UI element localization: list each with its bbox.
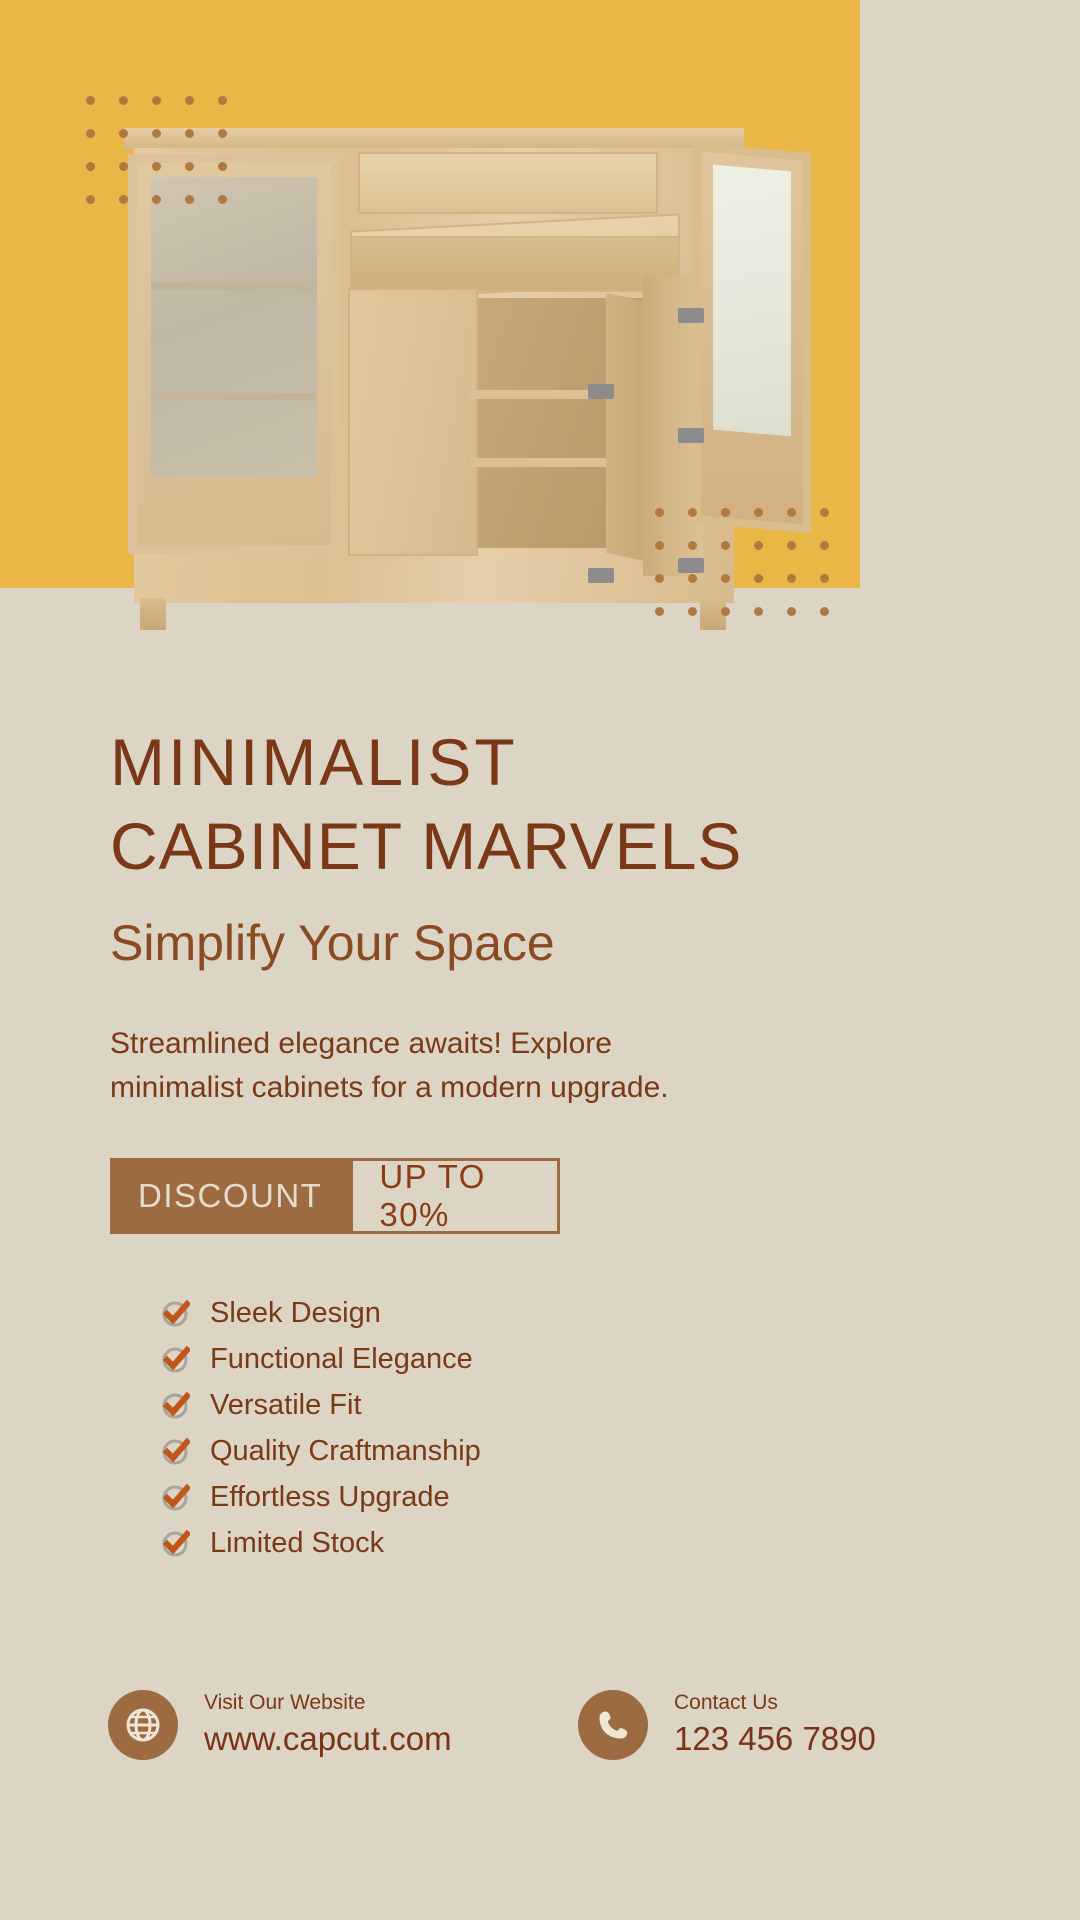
description-text: Streamlined elegance awaits! Explore min… (0, 1022, 750, 1110)
check-circle-icon (162, 1483, 190, 1511)
check-circle-icon (162, 1437, 190, 1465)
decorative-dot (820, 508, 829, 517)
footer-website-caption: Visit Our Website (204, 1691, 365, 1714)
discount-label: DISCOUNT (110, 1158, 350, 1234)
cabinet-drawer-open-front (350, 236, 680, 292)
check-circle-icon (162, 1529, 190, 1557)
decorative-dot (787, 607, 796, 616)
list-item: Sleek Design (162, 1294, 1080, 1332)
dot-grid-top-left (86, 96, 251, 228)
decorative-dot (119, 162, 128, 171)
decorative-dot (655, 607, 664, 616)
footer-phone-text: Contact Us 123 456 7890 (674, 1690, 876, 1760)
decorative-dot (787, 541, 796, 550)
dot-grid-bottom-right (655, 508, 853, 640)
decorative-dot (688, 508, 697, 517)
decorative-dot (787, 508, 796, 517)
list-item: Effortless Upgrade (162, 1478, 1080, 1516)
decorative-dot (787, 574, 796, 583)
hinge-icon (588, 568, 614, 583)
decorative-dot (655, 541, 664, 550)
decorative-dot (119, 195, 128, 204)
decorative-dot (86, 129, 95, 138)
decorative-dot (152, 96, 161, 105)
feature-list: Sleek Design Functional Elegance (0, 1294, 1080, 1562)
feature-label: Functional Elegance (210, 1343, 473, 1376)
decorative-dot (688, 607, 697, 616)
decorative-dot (86, 162, 95, 171)
decorative-dot (754, 541, 763, 550)
cabinet-leg (140, 598, 166, 630)
decorative-dot (721, 574, 730, 583)
list-item: Limited Stock (162, 1524, 1080, 1562)
list-item: Versatile Fit (162, 1386, 1080, 1424)
hero-section (0, 0, 1080, 720)
decorative-dot (688, 574, 697, 583)
decorative-dot (185, 195, 194, 204)
poster-canvas: MINIMALIST CABINET MARVELS Simplify Your… (0, 0, 1080, 1920)
decorative-dot (218, 195, 227, 204)
decorative-dot (655, 508, 664, 517)
decorative-dot (655, 574, 664, 583)
decorative-dot (721, 508, 730, 517)
check-circle-icon (162, 1345, 190, 1373)
cabinet-middle-door (348, 288, 478, 556)
page-title: MINIMALIST CABINET MARVELS (0, 720, 1080, 888)
footer-website-value[interactable]: www.capcut.com (204, 1718, 452, 1760)
footer-website-text: Visit Our Website www.capcut.com (204, 1690, 452, 1760)
subtitle: Simplify Your Space (0, 914, 1080, 972)
title-line-2: CABINET MARVELS (110, 804, 1080, 888)
decorative-dot (185, 129, 194, 138)
decorative-dot (820, 541, 829, 550)
feature-label: Versatile Fit (210, 1389, 362, 1422)
content-section: MINIMALIST CABINET MARVELS Simplify Your… (0, 720, 1080, 1570)
list-item: Functional Elegance (162, 1340, 1080, 1378)
decorative-dot (86, 96, 95, 105)
title-line-1: MINIMALIST (110, 725, 518, 799)
footer-phone-block[interactable]: Contact Us 123 456 7890 (578, 1690, 876, 1760)
decorative-dot (152, 162, 161, 171)
hinge-icon (678, 308, 704, 323)
decorative-dot (185, 162, 194, 171)
hero-beige-right-mask (860, 0, 1080, 720)
footer-phone-value[interactable]: 123 456 7890 (674, 1718, 876, 1760)
decorative-dot (820, 607, 829, 616)
mirror-pane (713, 165, 791, 437)
cabinet-legs (140, 598, 726, 630)
decorative-dot (820, 574, 829, 583)
phone-icon (578, 1690, 648, 1760)
footer-website-block[interactable]: Visit Our Website www.capcut.com (108, 1690, 578, 1760)
decorative-dot (721, 607, 730, 616)
decorative-dot (119, 129, 128, 138)
decorative-dot (185, 96, 194, 105)
cabinet-drawer-top (358, 152, 658, 214)
decorative-dot (218, 96, 227, 105)
feature-label: Effortless Upgrade (210, 1481, 450, 1514)
discount-badge: DISCOUNT UP TO 30% (0, 1158, 560, 1234)
decorative-dot (688, 541, 697, 550)
hinge-icon (678, 428, 704, 443)
feature-label: Limited Stock (210, 1527, 384, 1560)
list-item: Quality Craftmanship (162, 1432, 1080, 1470)
glass-shelf (151, 393, 317, 400)
hinge-icon (588, 384, 614, 399)
glass-shelf (151, 283, 317, 290)
decorative-dot (754, 607, 763, 616)
footer-phone-caption: Contact Us (674, 1691, 778, 1714)
decorative-dot (86, 195, 95, 204)
decorative-dot (152, 195, 161, 204)
decorative-dot (152, 129, 161, 138)
decorative-dot (721, 541, 730, 550)
cabinet-mirror-door (693, 143, 811, 533)
decorative-dot (754, 508, 763, 517)
discount-value: UP TO 30% (350, 1158, 560, 1234)
footer-contact-bar: Visit Our Website www.capcut.com Contact… (0, 1690, 1080, 1760)
feature-label: Sleek Design (210, 1297, 381, 1330)
decorative-dot (218, 129, 227, 138)
check-circle-icon (162, 1299, 190, 1327)
globe-icon (108, 1690, 178, 1760)
check-circle-icon (162, 1391, 190, 1419)
decorative-dot (754, 574, 763, 583)
decorative-dot (119, 96, 128, 105)
decorative-dot (218, 162, 227, 171)
feature-label: Quality Craftmanship (210, 1435, 481, 1468)
